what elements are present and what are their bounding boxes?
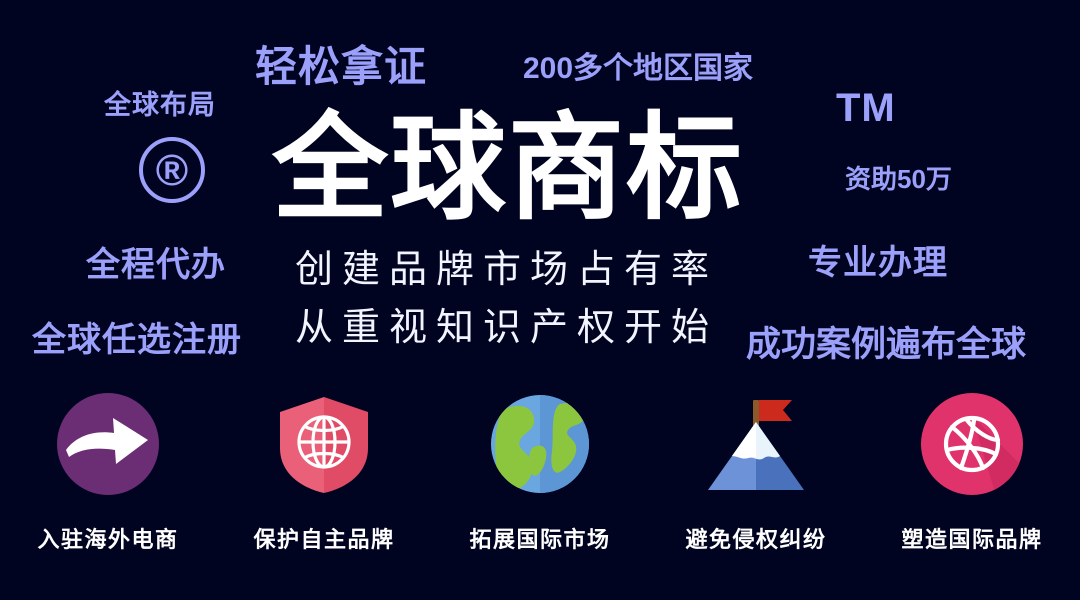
hero-subtitle-line-1: 创建品牌市场占有率: [295, 251, 718, 289]
feature-item-expand-market[interactable]: 拓展国际市场: [440, 392, 640, 554]
curved-arrow-circle-icon: [56, 392, 160, 496]
feature-icon-row: 入驻海外电商 保护自主品牌: [0, 392, 1080, 572]
tag-subsidy: 资助50万: [845, 166, 952, 192]
feature-caption: 塑造国际品牌: [901, 522, 1042, 554]
feature-item-avoid-infringement[interactable]: 避免侵权纠纷: [656, 392, 856, 554]
feature-caption: 保护自主品牌: [253, 522, 394, 554]
feature-item-protect-brand[interactable]: 保护自主品牌: [224, 392, 424, 554]
feature-caption: 入驻海外电商: [37, 522, 178, 554]
mountain-flag-icon: [704, 392, 808, 496]
hero-subtitle-line-2: 从重视知识产权开始: [295, 309, 718, 347]
earth-globe-icon: [488, 392, 592, 496]
registered-trademark-icon: ®: [139, 137, 205, 203]
promo-banner: 全球布局 轻松拿证 200多个地区国家 TM 资助50万 全程代办 全球任选注册…: [0, 0, 1080, 600]
feature-caption: 拓展国际市场: [469, 522, 610, 554]
tag-professional-service: 专业办理: [808, 246, 948, 280]
feature-item-overseas-ecommerce[interactable]: 入驻海外电商: [8, 392, 208, 554]
tag-trademark-tm: TM: [836, 88, 896, 128]
feature-item-build-brand[interactable]: 塑造国际品牌: [872, 392, 1072, 554]
tag-countries-count: 200多个地区国家: [523, 54, 753, 84]
shield-globe-icon: [272, 392, 376, 496]
tag-cases-worldwide: 成功案例遍布全球: [746, 327, 1026, 362]
dribbble-ball-circle-icon: [920, 392, 1024, 496]
tag-register-anywhere: 全球任选注册: [32, 323, 242, 357]
tag-easy-certificate: 轻松拿证: [255, 46, 427, 88]
page-title: 全球商标: [272, 108, 744, 230]
tag-global-layout: 全球布局: [104, 92, 216, 119]
tag-full-agency: 全程代办: [86, 248, 226, 282]
feature-caption: 避免侵权纠纷: [685, 522, 826, 554]
